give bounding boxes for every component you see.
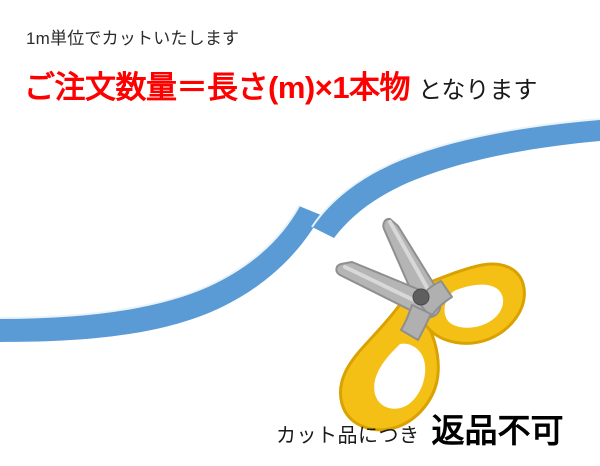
footer-note: カット品につき返品不可 [276,412,564,457]
scissors-pivot-rivet [413,289,429,305]
blue-cable-right-segment [312,119,600,238]
scissors [336,219,524,430]
headline-subtitle: 1m単位でカットいたします [26,29,239,49]
headline-main: ご注文数量＝長さ(m)×1本物となります [24,70,537,112]
headline-tail: となります [418,77,537,104]
illustration-canvas: 1m単位でカットいたします ご注文数量＝長さ(m)×1本物となります カット品に… [0,0,600,466]
headline-emphasis: ご注文数量＝長さ(m)×1本物 [24,70,410,105]
blue-cable-left-segment [0,206,321,342]
footer-lead-text: カット品につき [276,425,420,447]
footer-no-return-text: 返品不可 [432,412,564,449]
